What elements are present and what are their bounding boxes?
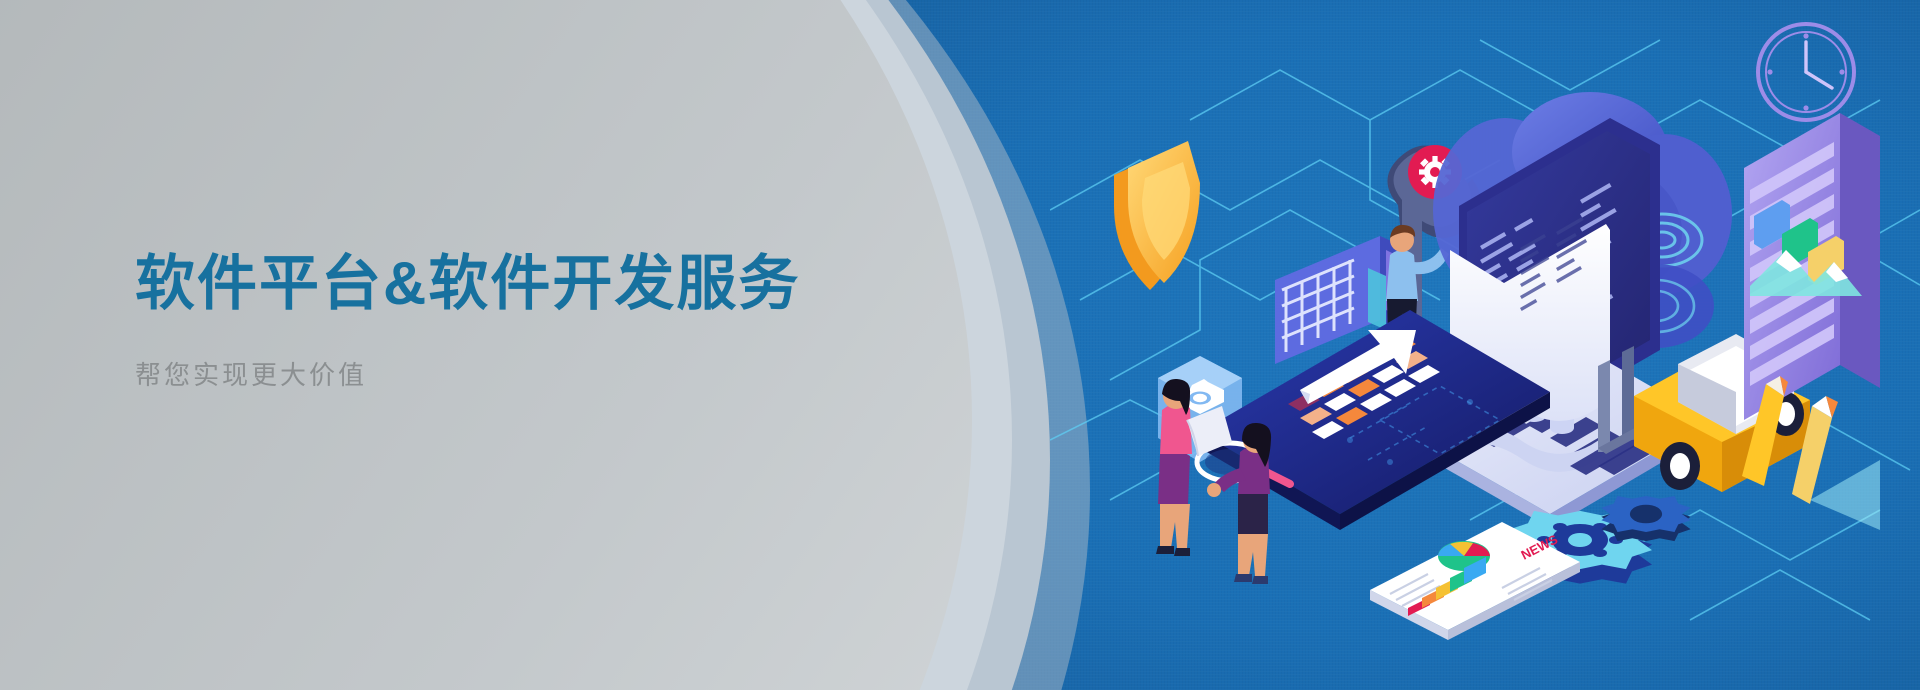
clock-icon <box>1758 24 1854 120</box>
page-subtitle: 帮您实现更大价值 <box>135 355 895 392</box>
hero-banner: NEWS <box>0 0 1920 690</box>
accent-triangle <box>1810 460 1880 530</box>
news-card: NEWS <box>1370 522 1580 640</box>
hero-copy: 软件平台&软件开发服务 帮您实现更大价值 <box>135 250 895 392</box>
page-title: 软件平台&软件开发服务 <box>135 250 895 317</box>
document-panel <box>1744 113 1880 420</box>
shield-icon <box>1114 141 1200 290</box>
hero-illustration: NEWS <box>1050 0 1920 690</box>
